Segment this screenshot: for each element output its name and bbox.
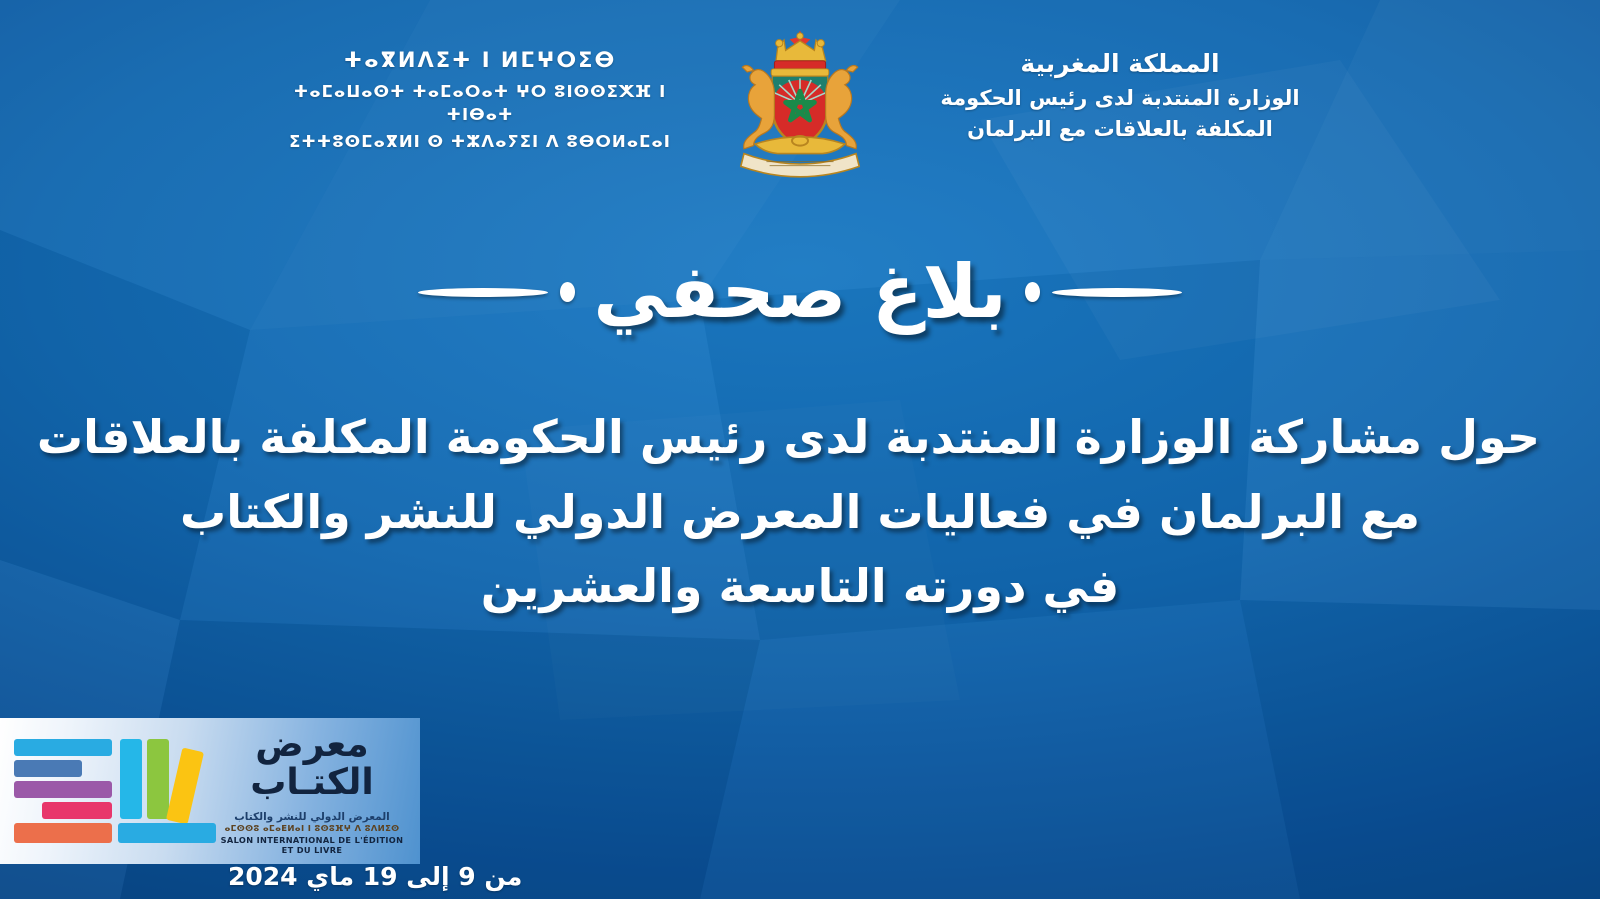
poster-header: المملكة المغربية الوزارة المنتدبة لدى رئ… xyxy=(0,0,1600,195)
press-release-title-row: بلاغ صحفي xyxy=(0,232,1600,352)
book-fair-logo: معرض الكتـاب المعرض الدولي للنشر والكتاب… xyxy=(0,718,420,864)
kingdom-name-tifinagh: ⵜⴰⴳⵍⴷⵉⵜ ⵏ ⵍⵎⵖⵔⵉⴱ xyxy=(270,46,690,76)
ornament-dot-icon xyxy=(1025,282,1040,302)
page-title: بلاغ صحفي xyxy=(593,246,1006,339)
ministry-name-arabic: الوزارة المنتدبة لدى رئيس الحكومة xyxy=(910,84,1330,114)
ornament-dot-icon xyxy=(560,282,575,302)
ornament-lens-icon xyxy=(1052,288,1182,297)
body-line: مع البرلمان في فعاليات المعرض الدولي للن… xyxy=(60,475,1540,550)
ornament-lens-icon xyxy=(418,288,548,297)
body-line: في دورته التاسعة والعشرين xyxy=(60,549,1540,624)
stacked-books-icon xyxy=(10,733,220,849)
fair-date-label: من 9 إلى 19 ماي 2024 xyxy=(228,862,522,891)
coat-of-arms-icon xyxy=(720,24,880,184)
press-release-poster: المملكة المغربية الوزارة المنتدبة لدى رئ… xyxy=(0,0,1600,899)
logo-subtitle-french: SALON INTERNATIONAL DE L'ÉDITION ET DU L… xyxy=(220,835,404,855)
announcement-body: حول مشاركة الوزارة المنتدبة لدى رئيس الح… xyxy=(60,400,1540,624)
logo-word-maared: معرض xyxy=(220,727,404,764)
logo-word-alkitab: الكتـاب xyxy=(220,764,404,802)
header-tifinagh-block: ⵜⴰⴳⵍⴷⵉⵜ ⵏ ⵍⵎⵖⵔⵉⴱ ⵜⴰⵎⴰⵡⴰⵙⵜ ⵜⴰⵎⴰⵔⴰⵜ ⵖⵔ ⵓⵏⵙ… xyxy=(270,46,690,153)
kingdom-name-arabic: المملكة المغربية xyxy=(910,46,1330,82)
logo-subtitle-tifinagh: ⴰⵎⵙⵙⵓ ⴰⵎⴰⴹⵍⴰⵏ ⵏ ⵓⵙⵓⴼⵖ ⴷ ⵓⴷⵍⵉⵙ xyxy=(220,824,404,834)
body-line: حول مشاركة الوزارة المنتدبة لدى رئيس الح… xyxy=(60,400,1540,475)
book-fair-logo-text: معرض الكتـاب المعرض الدولي للنشر والكتاب… xyxy=(220,727,420,855)
logo-subtitle-arabic: المعرض الدولي للنشر والكتاب xyxy=(220,811,404,823)
ministry-name-tifinagh: ⵜⴰⵎⴰⵡⴰⵙⵜ ⵜⴰⵎⴰⵔⴰⵜ ⵖⵔ ⵓⵏⵙⵙⵉⵅⴼ ⵏ ⵜⵏⴱⴰⵜ xyxy=(270,80,690,127)
ministry-role-tifinagh: ⵉⵜⵜⵓⵙⵎⴰⴳⵍⵏ ⵙ ⵜⵣⴷⴰⵢⵉⵏ ⴷ ⵓⴱⵔⵍⴰⵎⴰⵏ xyxy=(270,130,690,153)
title-ornament-left xyxy=(418,282,575,302)
header-arabic-block: المملكة المغربية الوزارة المنتدبة لدى رئ… xyxy=(910,46,1330,145)
title-ornament-right xyxy=(1025,282,1182,302)
ministry-role-arabic: المكلفة بالعلاقات مع البرلمان xyxy=(910,115,1330,145)
